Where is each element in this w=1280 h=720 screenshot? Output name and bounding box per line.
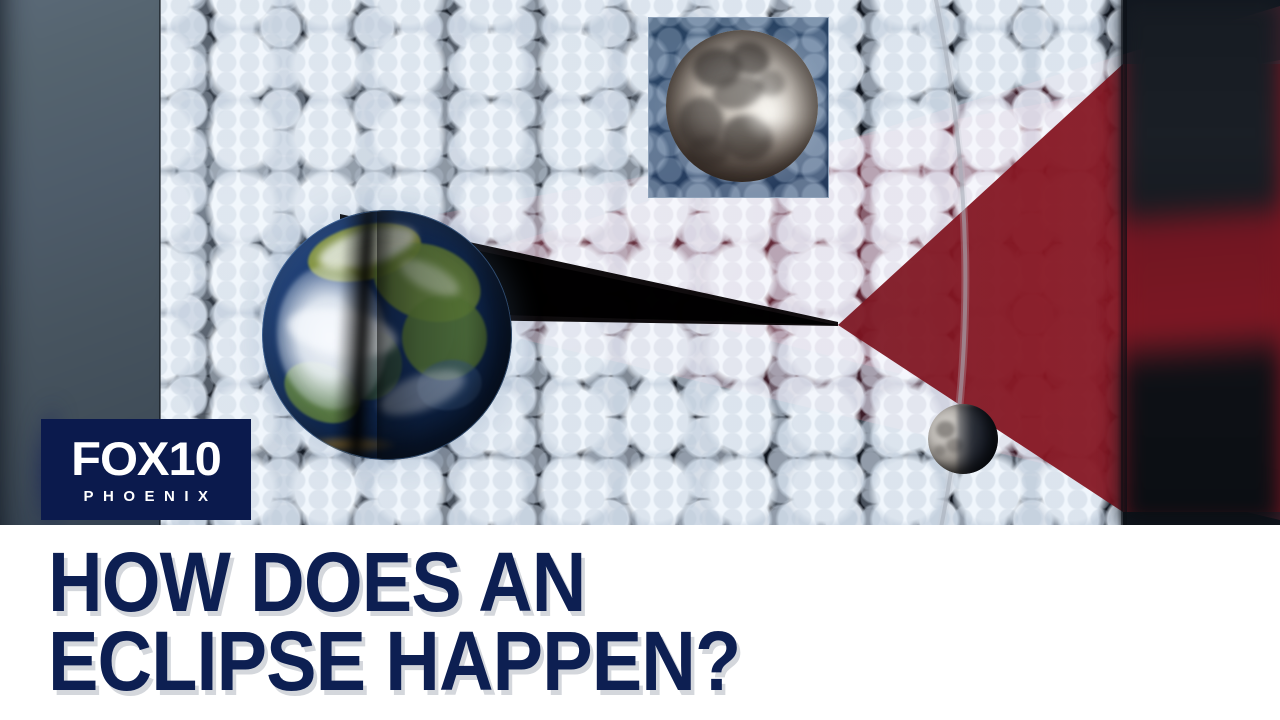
moon-sphere-shading bbox=[666, 30, 818, 182]
logo-channel-text: 10 bbox=[169, 432, 221, 485]
logo-network-text: FOX bbox=[71, 432, 168, 485]
headline-line-1: HOW DOES AN bbox=[48, 540, 586, 624]
moon-on-orbit-limb-shading bbox=[928, 404, 998, 474]
logo-market-text: PHOENIX bbox=[83, 489, 217, 504]
right-blur-band bbox=[1122, 0, 1280, 525]
headline-banner: HOW DOES AN ECLIPSE HAPPEN? bbox=[0, 525, 1280, 720]
headline-line-2: ECLIPSE HAPPEN? bbox=[48, 619, 740, 703]
moon-on-orbit bbox=[928, 404, 998, 474]
screenshot-stage: FOX10 PHOENIX HOW DOES AN ECLIPSE HAPPEN… bbox=[0, 0, 1280, 720]
earth-globe bbox=[262, 210, 512, 460]
fox10-phoenix-logo: FOX10 PHOENIX bbox=[41, 419, 251, 520]
eclipse-diagram-image: FOX10 PHOENIX bbox=[0, 0, 1280, 525]
moon-full-disc bbox=[666, 30, 818, 182]
moon-inset-panel bbox=[648, 17, 829, 198]
logo-network-channel: FOX10 bbox=[71, 435, 221, 482]
earth-atmosphere-rim bbox=[262, 210, 512, 460]
right-band-seam bbox=[1121, 0, 1123, 525]
